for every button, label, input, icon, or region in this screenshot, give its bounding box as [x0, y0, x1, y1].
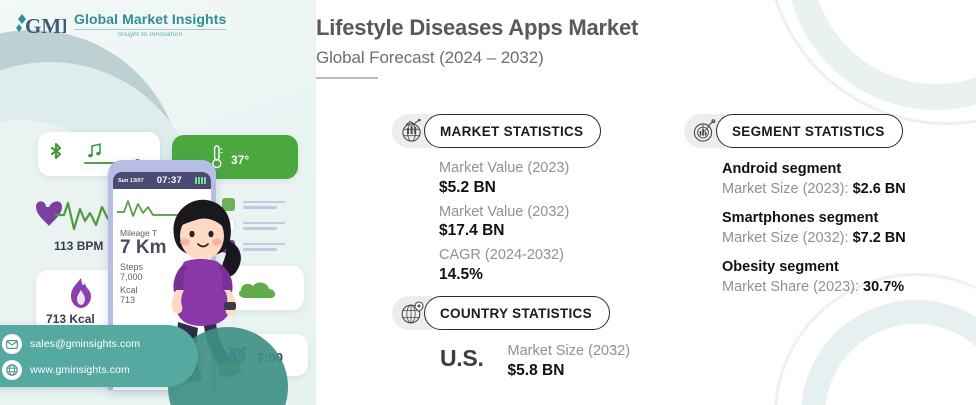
illustration-panel: 113 BPM 713 Kcal	[0, 0, 316, 405]
decorative-arc-bottom-right	[801, 300, 976, 405]
country-metric: Market Size (2032) $5.8 BN	[508, 342, 631, 382]
market-row-value: 14.5%	[439, 265, 601, 285]
market-row-label: Market Value (2023)	[439, 159, 601, 178]
country-metric-label: Market Size (2032)	[508, 342, 631, 361]
segment-metric-value: $2.6 BN	[853, 181, 906, 197]
battery-icon	[195, 177, 206, 184]
segment-metric-value: 30.7%	[863, 279, 904, 295]
infographic-root: 113 BPM 713 Kcal	[0, 0, 976, 405]
contact-website-row[interactable]: www.gminsights.com	[2, 360, 198, 380]
contact-website-text: www.gminsights.com	[30, 364, 130, 376]
segment-metric: Market Share (2023): 30.7%	[722, 278, 906, 298]
segment-statistics-header: SEGMENT STATISTICS	[684, 114, 906, 148]
segment-name: Android segment	[722, 160, 906, 180]
country-statistics-body: U.S. Market Size (2032) $5.8 BN	[440, 342, 630, 382]
country-metric-value: $5.8 BN	[508, 361, 631, 382]
contact-email-row[interactable]: sales@gminsights.com	[2, 334, 198, 354]
market-statistics-header: MARKET STATISTICS	[392, 114, 601, 148]
segment-name: Smartphones segment	[722, 209, 906, 229]
market-row-label: Market Value (2032)	[439, 203, 601, 222]
brand-divider	[74, 29, 226, 30]
globe-icon	[2, 360, 22, 380]
flame-icon	[66, 277, 96, 316]
segment-item: Obesity segment Market Share (2023): 30.…	[722, 258, 906, 297]
decorative-arc-top-right	[786, 0, 976, 110]
country-statistics-header: COUNTRY STATISTICS	[392, 296, 630, 330]
phone-status-time: 07:37	[157, 175, 182, 186]
heart-rate-value: 113 BPM	[54, 239, 103, 253]
brand-name: Global Market Insights	[74, 12, 226, 27]
country-abbreviation: U.S.	[440, 345, 484, 372]
title-underline	[316, 77, 378, 79]
segment-item: Android segment Market Size (2023): $2.6…	[722, 160, 906, 199]
brand-logo[interactable]: GMI Global Market Insights Insight to In…	[14, 10, 226, 40]
market-row: CAGR (2024-2032) 14.5%	[439, 246, 601, 285]
decorative-arc-top-right-thin	[766, 0, 976, 125]
market-row: Market Value (2023) $5.2 BN	[439, 159, 601, 198]
segment-metric-label: Market Size (2032):	[722, 230, 853, 246]
phone-status-bar: Sun 13/07 07:37	[113, 172, 211, 189]
brand-tagline: Insight to Innovation	[74, 31, 226, 38]
market-statistics-title: MARKET STATISTICS	[424, 114, 601, 148]
title-block: Lifestyle Diseases Apps Market Global Fo…	[316, 14, 736, 79]
market-row-value: $17.4 BN	[439, 221, 601, 241]
country-statistics-section: COUNTRY STATISTICS U.S. Market Size (203…	[392, 296, 630, 382]
market-statistics-section: MARKET STATISTICS Market Value (2023) $5…	[392, 114, 601, 290]
country-statistics-title: COUNTRY STATISTICS	[424, 296, 610, 330]
market-statistics-body: Market Value (2023) $5.2 BN Market Value…	[439, 159, 601, 285]
market-row-label: CAGR (2024-2032)	[439, 246, 601, 265]
segment-name: Obesity segment	[722, 258, 906, 278]
phone-status-date: Sun 13/07	[118, 178, 144, 184]
envelope-icon	[2, 334, 22, 354]
page-title: Lifestyle Diseases Apps Market	[316, 14, 736, 42]
contact-bar: sales@gminsights.com www.gminsights.com	[0, 325, 198, 387]
segment-metric: Market Size (2032): $7.2 BN	[722, 229, 906, 249]
gmi-logo-icon: GMI	[14, 10, 66, 40]
page-subtitle: Global Forecast (2024 – 2032)	[316, 48, 736, 68]
segment-statistics-body: Android segment Market Size (2023): $2.6…	[722, 160, 906, 297]
contact-email-text: sales@gminsights.com	[30, 338, 140, 350]
market-row: Market Value (2032) $17.4 BN	[439, 203, 601, 242]
segment-statistics-title: SEGMENT STATISTICS	[716, 114, 903, 148]
segment-metric-label: Market Size (2023):	[722, 181, 853, 197]
segment-metric: Market Size (2023): $2.6 BN	[722, 180, 906, 200]
market-row-value: $5.2 BN	[439, 178, 601, 198]
temperature-value: 37°	[231, 153, 249, 167]
calories-value: 713 Kcal	[46, 312, 95, 326]
segment-item: Smartphones segment Market Size (2032): …	[722, 209, 906, 248]
segment-metric-label: Market Share (2023):	[722, 279, 863, 295]
segment-statistics-section: SEGMENT STATISTICS Android segment Marke…	[684, 114, 906, 307]
segment-metric-value: $7.2 BN	[853, 230, 906, 246]
svg-text:GMI: GMI	[25, 14, 66, 38]
bluetooth-icon	[48, 142, 64, 171]
brand-text: Global Market Insights Insight to Innova…	[74, 12, 226, 38]
